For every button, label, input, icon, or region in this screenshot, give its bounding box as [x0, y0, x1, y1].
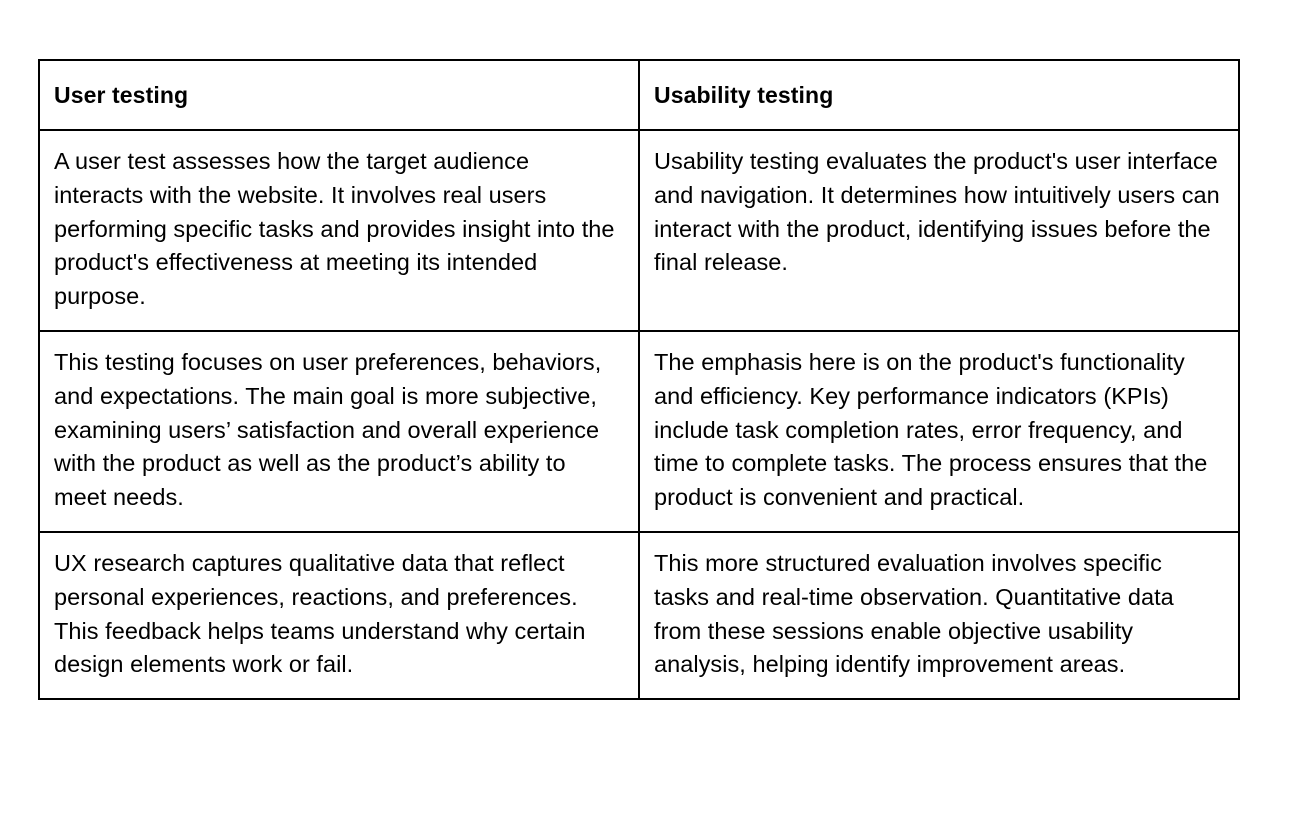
table-body: A user test assesses how the target audi… [39, 130, 1239, 699]
cell-usability-testing-1: Usability testing evaluates the product'… [639, 130, 1239, 331]
cell-usability-testing-3: This more structured evaluation involves… [639, 532, 1239, 699]
table-header-row: User testing Usability testing [39, 60, 1239, 130]
column-header-user-testing: User testing [39, 60, 639, 130]
cell-user-testing-3: UX research captures qualitative data th… [39, 532, 639, 699]
column-header-usability-testing: Usability testing [639, 60, 1239, 130]
cell-text: Usability testing evaluates the product'… [654, 145, 1222, 280]
cell-text: This more structured evaluation involves… [654, 547, 1222, 682]
cell-text: The emphasis here is on the product's fu… [654, 346, 1222, 515]
cell-usability-testing-2: The emphasis here is on the product's fu… [639, 331, 1239, 532]
table-row: A user test assesses how the target audi… [39, 130, 1239, 331]
cell-text: This testing focuses on user preferences… [54, 346, 622, 515]
cell-user-testing-1: A user test assesses how the target audi… [39, 130, 639, 331]
table-row: UX research captures qualitative data th… [39, 532, 1239, 699]
comparison-table: User testing Usability testing A user te… [38, 59, 1240, 700]
cell-text: A user test assesses how the target audi… [54, 145, 622, 314]
cell-user-testing-2: This testing focuses on user preferences… [39, 331, 639, 532]
table-header: User testing Usability testing [39, 60, 1239, 130]
cell-text: UX research captures qualitative data th… [54, 547, 622, 682]
table-row: This testing focuses on user preferences… [39, 331, 1239, 532]
page-canvas: User testing Usability testing A user te… [0, 0, 1298, 838]
